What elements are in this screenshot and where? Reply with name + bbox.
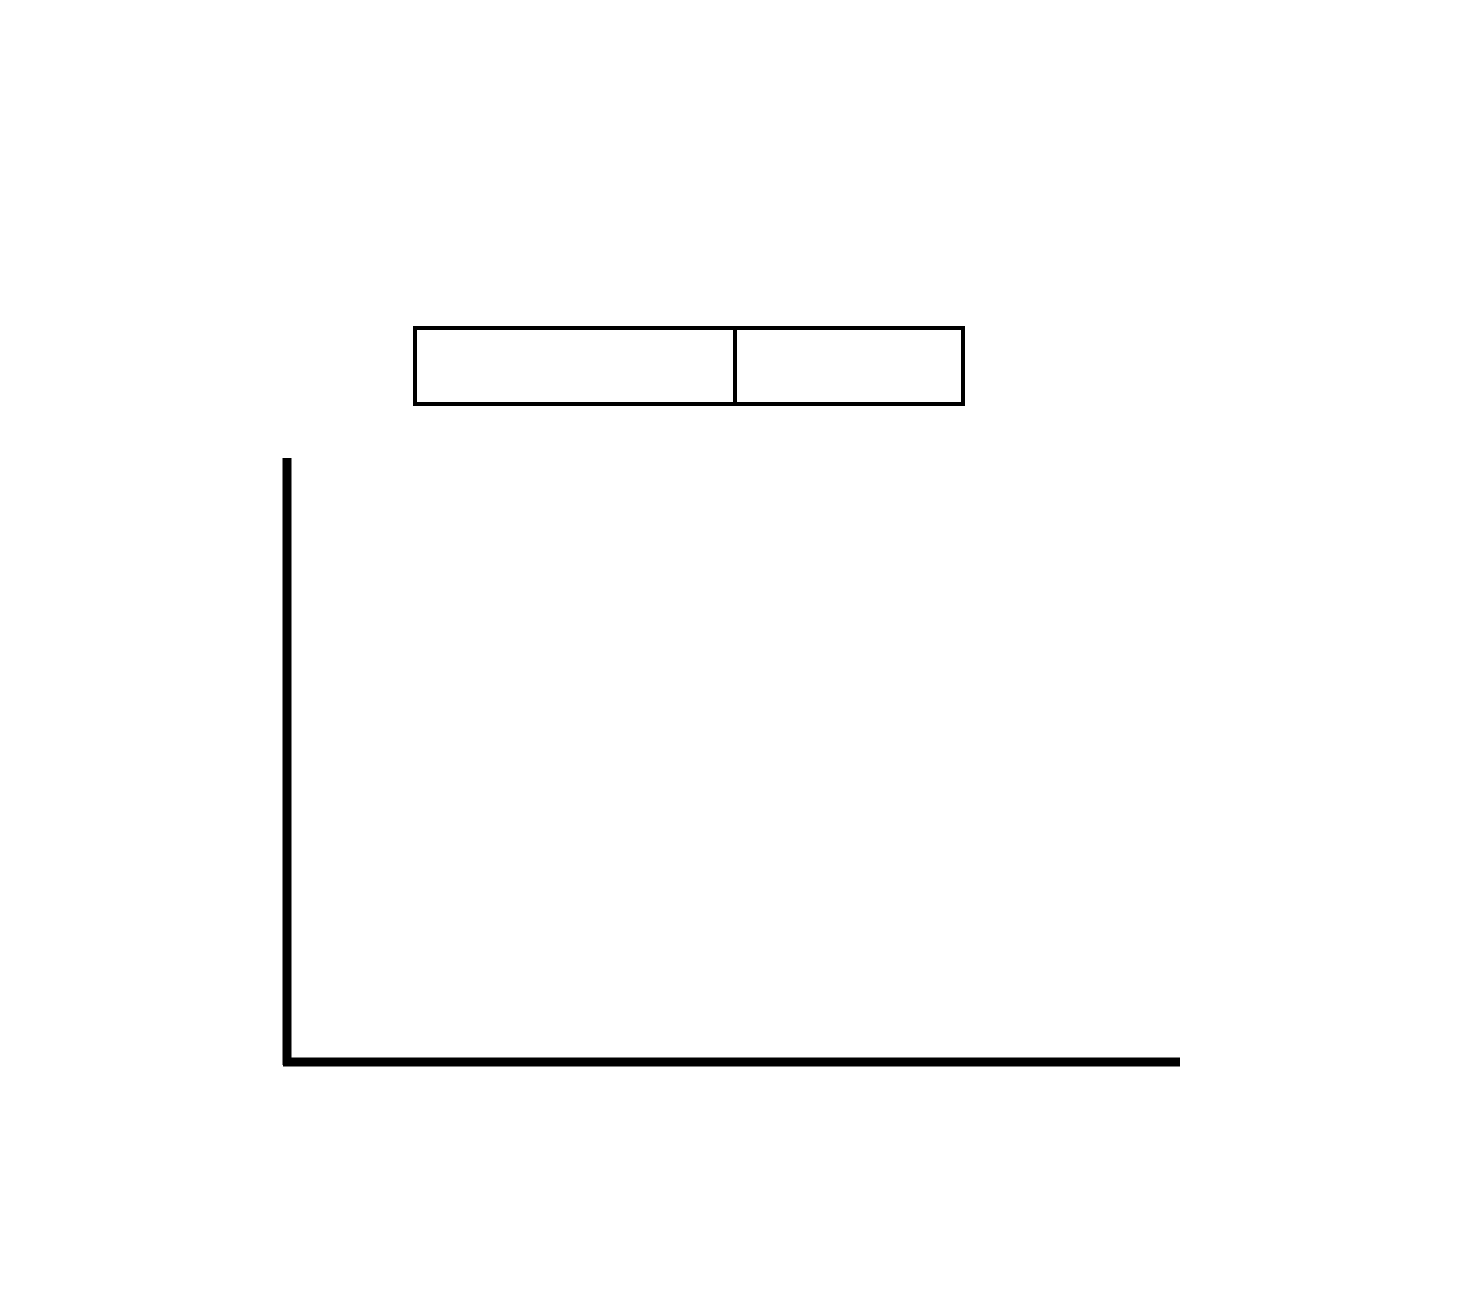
axes-group [283,458,1180,1065]
plot-area [0,0,1472,1307]
chart-page [0,0,1472,1307]
chart-canvas [0,0,1472,1307]
